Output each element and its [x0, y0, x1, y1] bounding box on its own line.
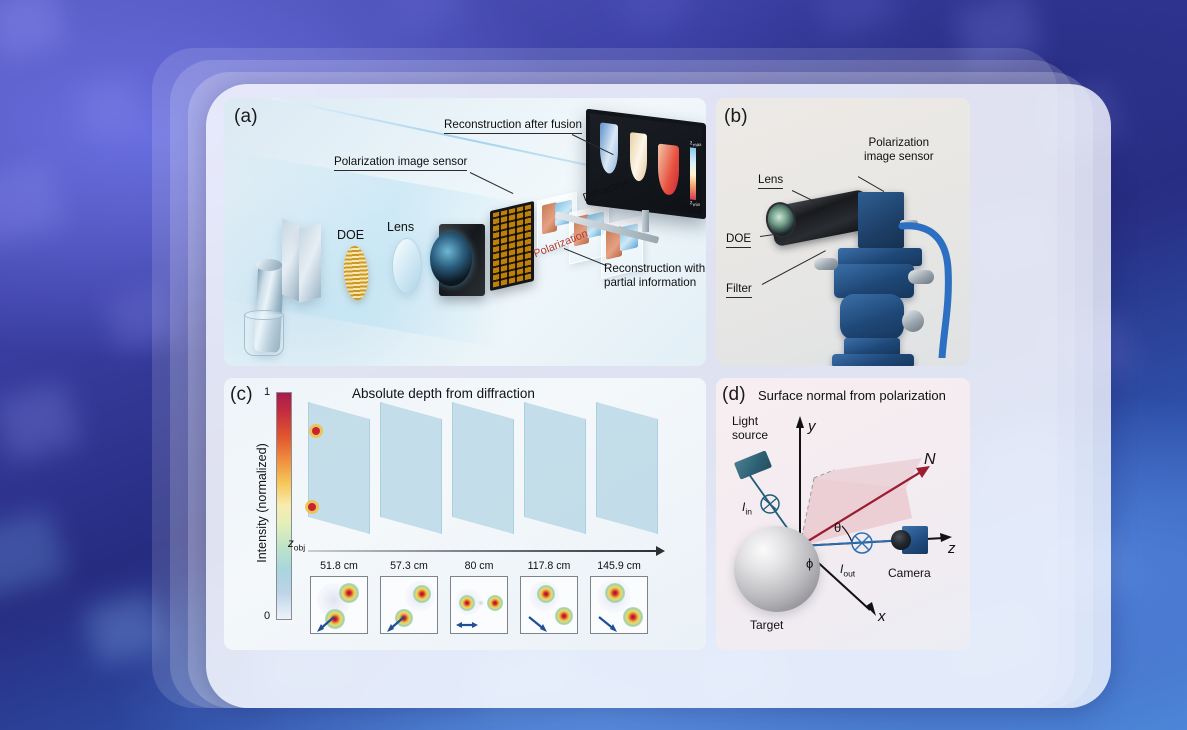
annotation-partial-line2: partial information [604, 276, 696, 290]
camera-lens-d [891, 530, 911, 550]
label-intensity-out: Iout [840, 562, 855, 579]
light-source-line1: Light [732, 414, 758, 428]
intensity-in-sub: in [745, 506, 752, 516]
psf-lobe-upper [537, 585, 555, 603]
monitor-colorbar [690, 147, 696, 200]
panel-d-surface-normal: (d) Surface normal from polarization [716, 378, 970, 650]
result-monitor: zmax zmin [586, 109, 706, 220]
cbar-min-sub: min [692, 202, 700, 207]
propagation-plane-5 [596, 402, 658, 534]
annotation-doe-b: DOE [726, 232, 751, 248]
label-light-source: Light source [732, 414, 768, 443]
inset-caption-2: 57.3 cm [378, 560, 440, 572]
inset-caption-3: 80 cm [448, 560, 510, 572]
annotation-lens-b: Lens [758, 173, 783, 189]
psf-lobe-upper [605, 583, 625, 603]
panel-b-prototype-photo: Polarization image sensor Lens DOE Filte… [716, 98, 970, 366]
z-axis-arrowhead [656, 546, 665, 556]
psf-orientation-arrow [595, 615, 619, 633]
z-axis-arrow [308, 550, 656, 552]
psf-inset-4 [520, 576, 578, 634]
reconstruction-shape-red [658, 143, 679, 196]
tripod-lock-lever [902, 310, 924, 332]
panel-a-system-overview: Diffraction Polarization zmax zmin Recon… [224, 98, 706, 366]
label-angle-phi: ϕ [806, 556, 813, 572]
tripod-ball-head [840, 294, 904, 340]
target-folded-card-2 [299, 223, 321, 302]
tripod-base-plate [832, 354, 914, 366]
label-camera: Camera [888, 566, 931, 580]
tripod-head-body [834, 264, 914, 298]
psf-orientation-arrow [455, 619, 479, 631]
axis-label-y: y [808, 418, 816, 436]
label-normal-vector: N [924, 450, 936, 469]
annotation-polarization-image-sensor: Polarization image sensor [334, 155, 467, 171]
psf-orientation-arrow [315, 615, 337, 633]
monitor-colorbar-max: zmax [689, 140, 701, 148]
axis-label-x: x [878, 608, 886, 626]
panel-c-depth-from-diffraction: (c) Absolute depth from diffraction 1 0 … [224, 378, 706, 650]
label-intensity-in: Iin [742, 500, 752, 517]
axis-label-z: z [948, 540, 956, 558]
light-source-line2: source [732, 428, 768, 442]
monitor-colorbar-min: zmin [689, 200, 700, 208]
label-doe: DOE [337, 228, 364, 243]
panel-b-label: (b) [724, 106, 748, 128]
psf-center-spot [478, 600, 484, 606]
monitor-screen: zmax zmin [590, 113, 702, 215]
propagation-plane-2 [380, 402, 442, 534]
psf-orientation-arrow [385, 615, 407, 633]
annotation-partial-line1: Reconstruction with [604, 262, 705, 275]
inset-caption-1: 51.8 cm [308, 560, 370, 572]
lens-element [392, 238, 422, 294]
psf-lobe-upper [413, 585, 431, 603]
target-beaker [244, 314, 284, 356]
target-beaker-rim [244, 310, 284, 320]
annotation-b-sensor-line2: image sensor [864, 150, 934, 164]
propagation-plane-3 [452, 402, 514, 534]
panel-a-label: (a) [234, 106, 258, 128]
psf-inset-1 [310, 576, 368, 634]
target-cylinder-top [256, 259, 282, 271]
psf-lobe-upper [339, 583, 359, 603]
panel-c-title: Absolute depth from diffraction [352, 386, 535, 401]
psf-inset-3 [450, 576, 508, 634]
label-angle-theta: θ [834, 520, 841, 536]
annotation-b-sensor-line1: Polarization [869, 136, 930, 149]
monitor-stand [642, 210, 649, 232]
propagation-plane-4 [524, 402, 586, 534]
cbar-max-sub: max [692, 142, 701, 147]
panel-d-label: (d) [722, 384, 746, 406]
psf-inset-2 [380, 576, 438, 634]
z-axis-label: zobj [288, 538, 305, 552]
polarization-sensor-chip [490, 201, 534, 291]
psf-lobe-left [459, 595, 475, 611]
label-target: Target [750, 618, 783, 632]
annotation-polarization-image-sensor-b: Polarization image sensor [864, 136, 934, 163]
tripod-knob-left [814, 258, 838, 270]
z-axis-subscript: obj [294, 542, 305, 552]
intensity-out-sub: out [843, 568, 855, 578]
label-lens: Lens [387, 220, 414, 235]
psf-inset-5 [590, 576, 648, 634]
target-folded-card [282, 218, 300, 301]
panel-c-label: (c) [230, 384, 253, 406]
inset-caption-5: 145.9 cm [588, 560, 650, 572]
colorbar-axis-title: Intensity (normalized) [255, 423, 269, 583]
psf-orientation-arrow [525, 615, 549, 633]
leader-polarization-image-sensor [470, 172, 514, 194]
annotation-reconstruction-partial: Reconstruction with partial information [604, 262, 705, 289]
annotation-filter-b: Filter [726, 282, 752, 298]
leader-sensor-b [858, 176, 885, 192]
tripod-knob-right [908, 270, 934, 284]
inset-caption-4: 117.8 cm [518, 560, 580, 572]
reconstruction-shape-cream [630, 132, 647, 182]
intensity-colorbar [276, 392, 292, 620]
sensor-pixel-grid [493, 205, 531, 288]
colorbar-tick-max: 1 [264, 386, 270, 398]
annotation-reconstruction-after-fusion: Reconstruction after fusion [444, 118, 582, 134]
psf-lobe-right [487, 595, 503, 611]
propagation-plane-1 [308, 402, 370, 534]
camera-lens-barrel [430, 232, 472, 286]
psf-lobe-lower [555, 607, 573, 625]
colorbar-tick-min: 0 [264, 610, 270, 622]
psf-lobe-lower [623, 607, 643, 627]
